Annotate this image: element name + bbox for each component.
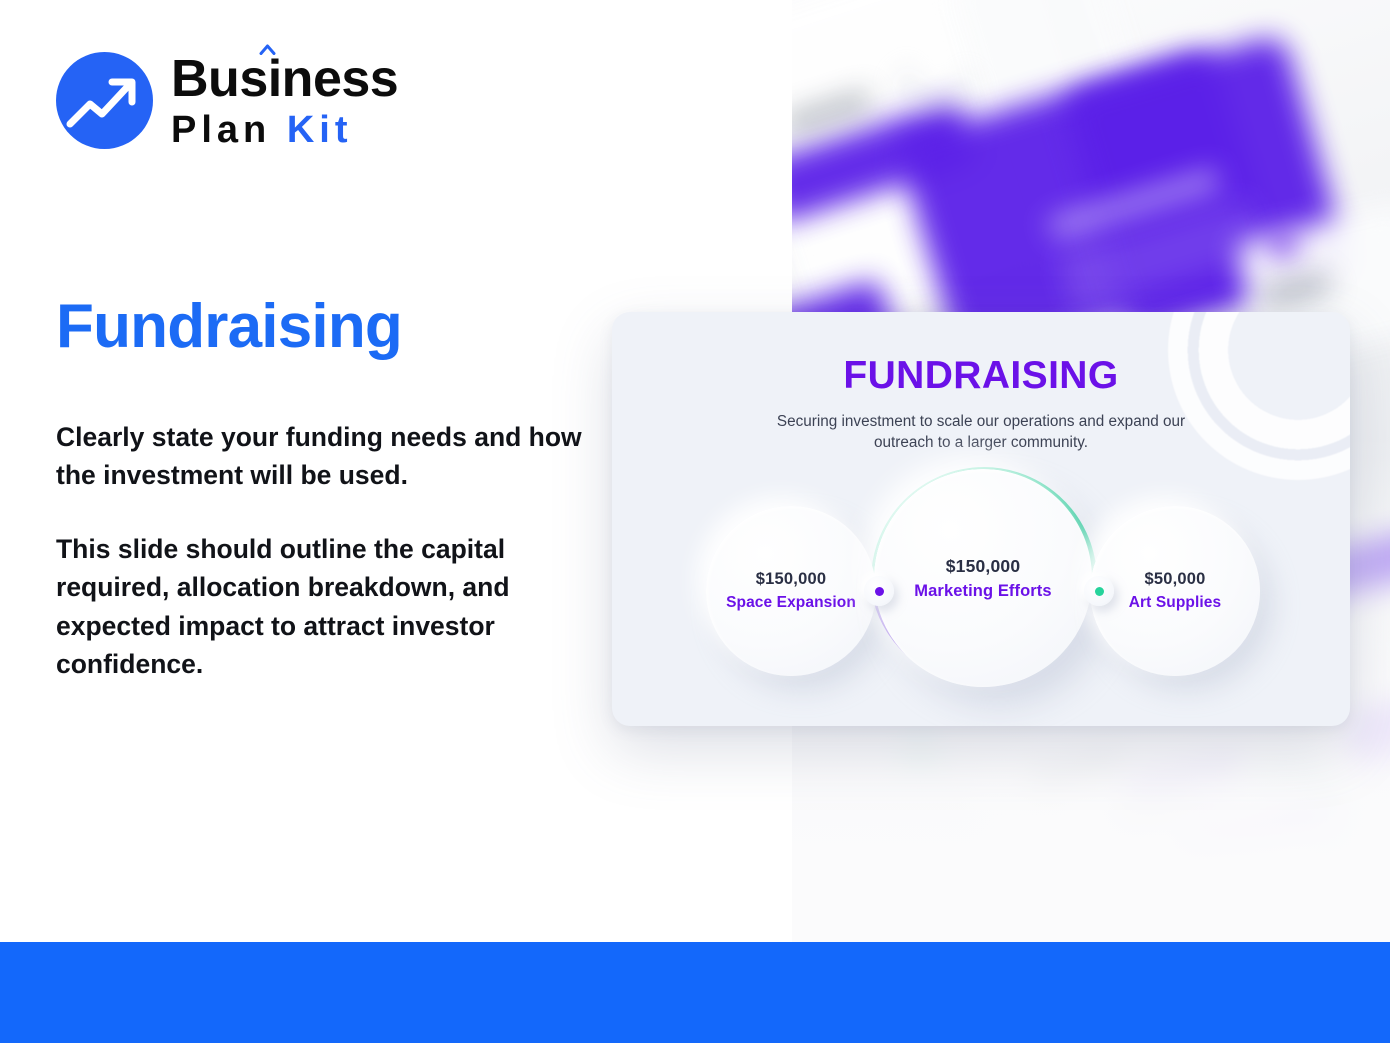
brand-name-line2: Plan Kit — [171, 111, 398, 149]
funding-label: Space Expansion — [726, 594, 856, 612]
card-title: FUNDRAISING — [612, 354, 1350, 398]
blurred-green-dot — [902, 735, 938, 771]
body-copy: Clearly state your funding needs and how… — [56, 418, 596, 683]
card-subtitle: Securing investment to scale our operati… — [771, 412, 1191, 454]
body-paragraph-2: This slide should outline the capital re… — [56, 530, 596, 683]
funding-amount: $150,000 — [946, 556, 1021, 577]
brand-name-kit: Kit — [287, 109, 353, 151]
connector-node-left — [864, 576, 894, 606]
funding-label: Art Supplies — [1129, 594, 1222, 612]
purple-dot-icon — [875, 587, 884, 596]
funding-label: Marketing Efforts — [914, 582, 1051, 601]
brand-name-line1: Business — [171, 53, 398, 105]
funding-amount: $50,000 — [1144, 570, 1205, 589]
slide-canvas: Business Plan Kit Fundraising Clearly st… — [0, 0, 1390, 1043]
brand-name-plan: Plan — [171, 109, 271, 151]
funding-amount: $150,000 — [756, 570, 826, 589]
growth-arrow-chart-icon — [56, 52, 153, 149]
connector-node-right — [1084, 576, 1114, 606]
blurred-purple-dot — [1270, 232, 1296, 258]
brand-name-business: Business — [171, 50, 398, 108]
funding-allocation-diagram: $150,000 Space Expansion $150,000 Market… — [612, 464, 1350, 712]
funding-item-space-expansion[interactable]: $150,000 Space Expansion — [706, 506, 876, 676]
footer-accent-bar — [0, 942, 1390, 1043]
body-paragraph-1: Clearly state your funding needs and how… — [56, 418, 596, 494]
brand-wordmark: Business Plan Kit — [171, 53, 398, 149]
brand-logo[interactable]: Business Plan Kit — [56, 52, 398, 149]
green-dot-icon — [1095, 587, 1104, 596]
page-title: Fundraising — [56, 296, 402, 358]
funding-item-art-supplies[interactable]: $50,000 Art Supplies — [1090, 506, 1260, 676]
fundraising-preview-card[interactable]: FUNDRAISING Securing investment to scale… — [612, 312, 1350, 726]
funding-item-marketing-efforts[interactable]: $150,000 Marketing Efforts — [874, 469, 1092, 687]
caret-accent-icon — [259, 44, 276, 55]
